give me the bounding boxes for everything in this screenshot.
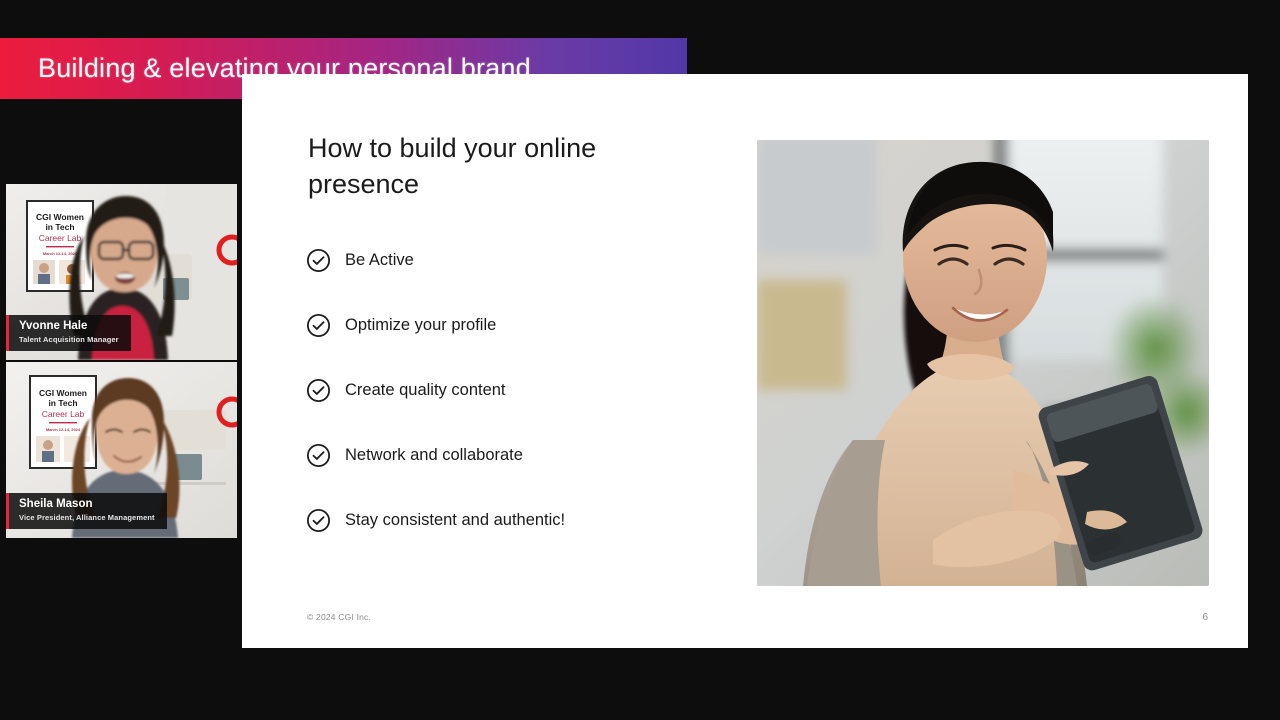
bullet-label: Create quality content	[345, 381, 506, 400]
participant-tile-yvonne-hale[interactable]: CGI Women in Tech Career Lab March 12-14…	[6, 184, 237, 360]
participant-nameplate: Sheila Mason Vice President, Alliance Ma…	[6, 493, 167, 529]
list-item: Optimize your profile	[306, 311, 706, 339]
participant-role: Vice President, Alliance Management	[19, 512, 155, 524]
svg-text:CGI Women: CGI Women	[39, 388, 87, 398]
list-item: Be Active	[306, 246, 706, 274]
bullet-label: Network and collaborate	[345, 446, 523, 465]
slide-heading: How to build your online presence	[308, 130, 678, 202]
screen-share-stage: Building & elevating your personal brand…	[0, 0, 1280, 720]
slide-page-number: 6	[1202, 612, 1208, 623]
svg-text:Career Lab: Career Lab	[42, 409, 85, 419]
participant-name: Yvonne Hale	[19, 319, 119, 334]
svg-text:CGI Women: CGI Women	[36, 212, 84, 222]
svg-text:March 12-14, 2024: March 12-14, 2024	[46, 427, 81, 432]
list-item: Create quality content	[306, 376, 706, 404]
check-circle-icon	[306, 508, 331, 533]
svg-text:Career Lab: Career Lab	[39, 233, 82, 243]
svg-text:in Tech: in Tech	[45, 222, 74, 232]
svg-text:in Tech: in Tech	[48, 398, 77, 408]
bullet-label: Be Active	[345, 251, 414, 270]
list-item: Network and collaborate	[306, 441, 706, 469]
bullet-label: Optimize your profile	[345, 316, 496, 335]
check-circle-icon	[306, 313, 331, 338]
slide-bullet-list: Be Active Optimize your profile	[306, 246, 706, 534]
check-circle-icon	[306, 378, 331, 403]
participant-role: Talent Acquisition Manager	[19, 334, 119, 346]
list-item: Stay consistent and authentic!	[306, 506, 706, 534]
slide-photo	[757, 140, 1209, 586]
svg-text:March 12-14, 2024: March 12-14, 2024	[43, 251, 78, 256]
bullet-label: Stay consistent and authentic!	[345, 511, 565, 530]
check-circle-icon	[306, 443, 331, 468]
slide-copyright: © 2024 CGI Inc.	[307, 612, 371, 622]
participant-nameplate: Yvonne Hale Talent Acquisition Manager	[6, 315, 131, 351]
shared-slide: How to build your online presence Be Act…	[242, 74, 1248, 648]
participant-name: Sheila Mason	[19, 497, 155, 512]
participant-tile-sheila-mason[interactable]: CGI Women in Tech Career Lab March 12-14…	[6, 362, 237, 538]
check-circle-icon	[306, 248, 331, 273]
